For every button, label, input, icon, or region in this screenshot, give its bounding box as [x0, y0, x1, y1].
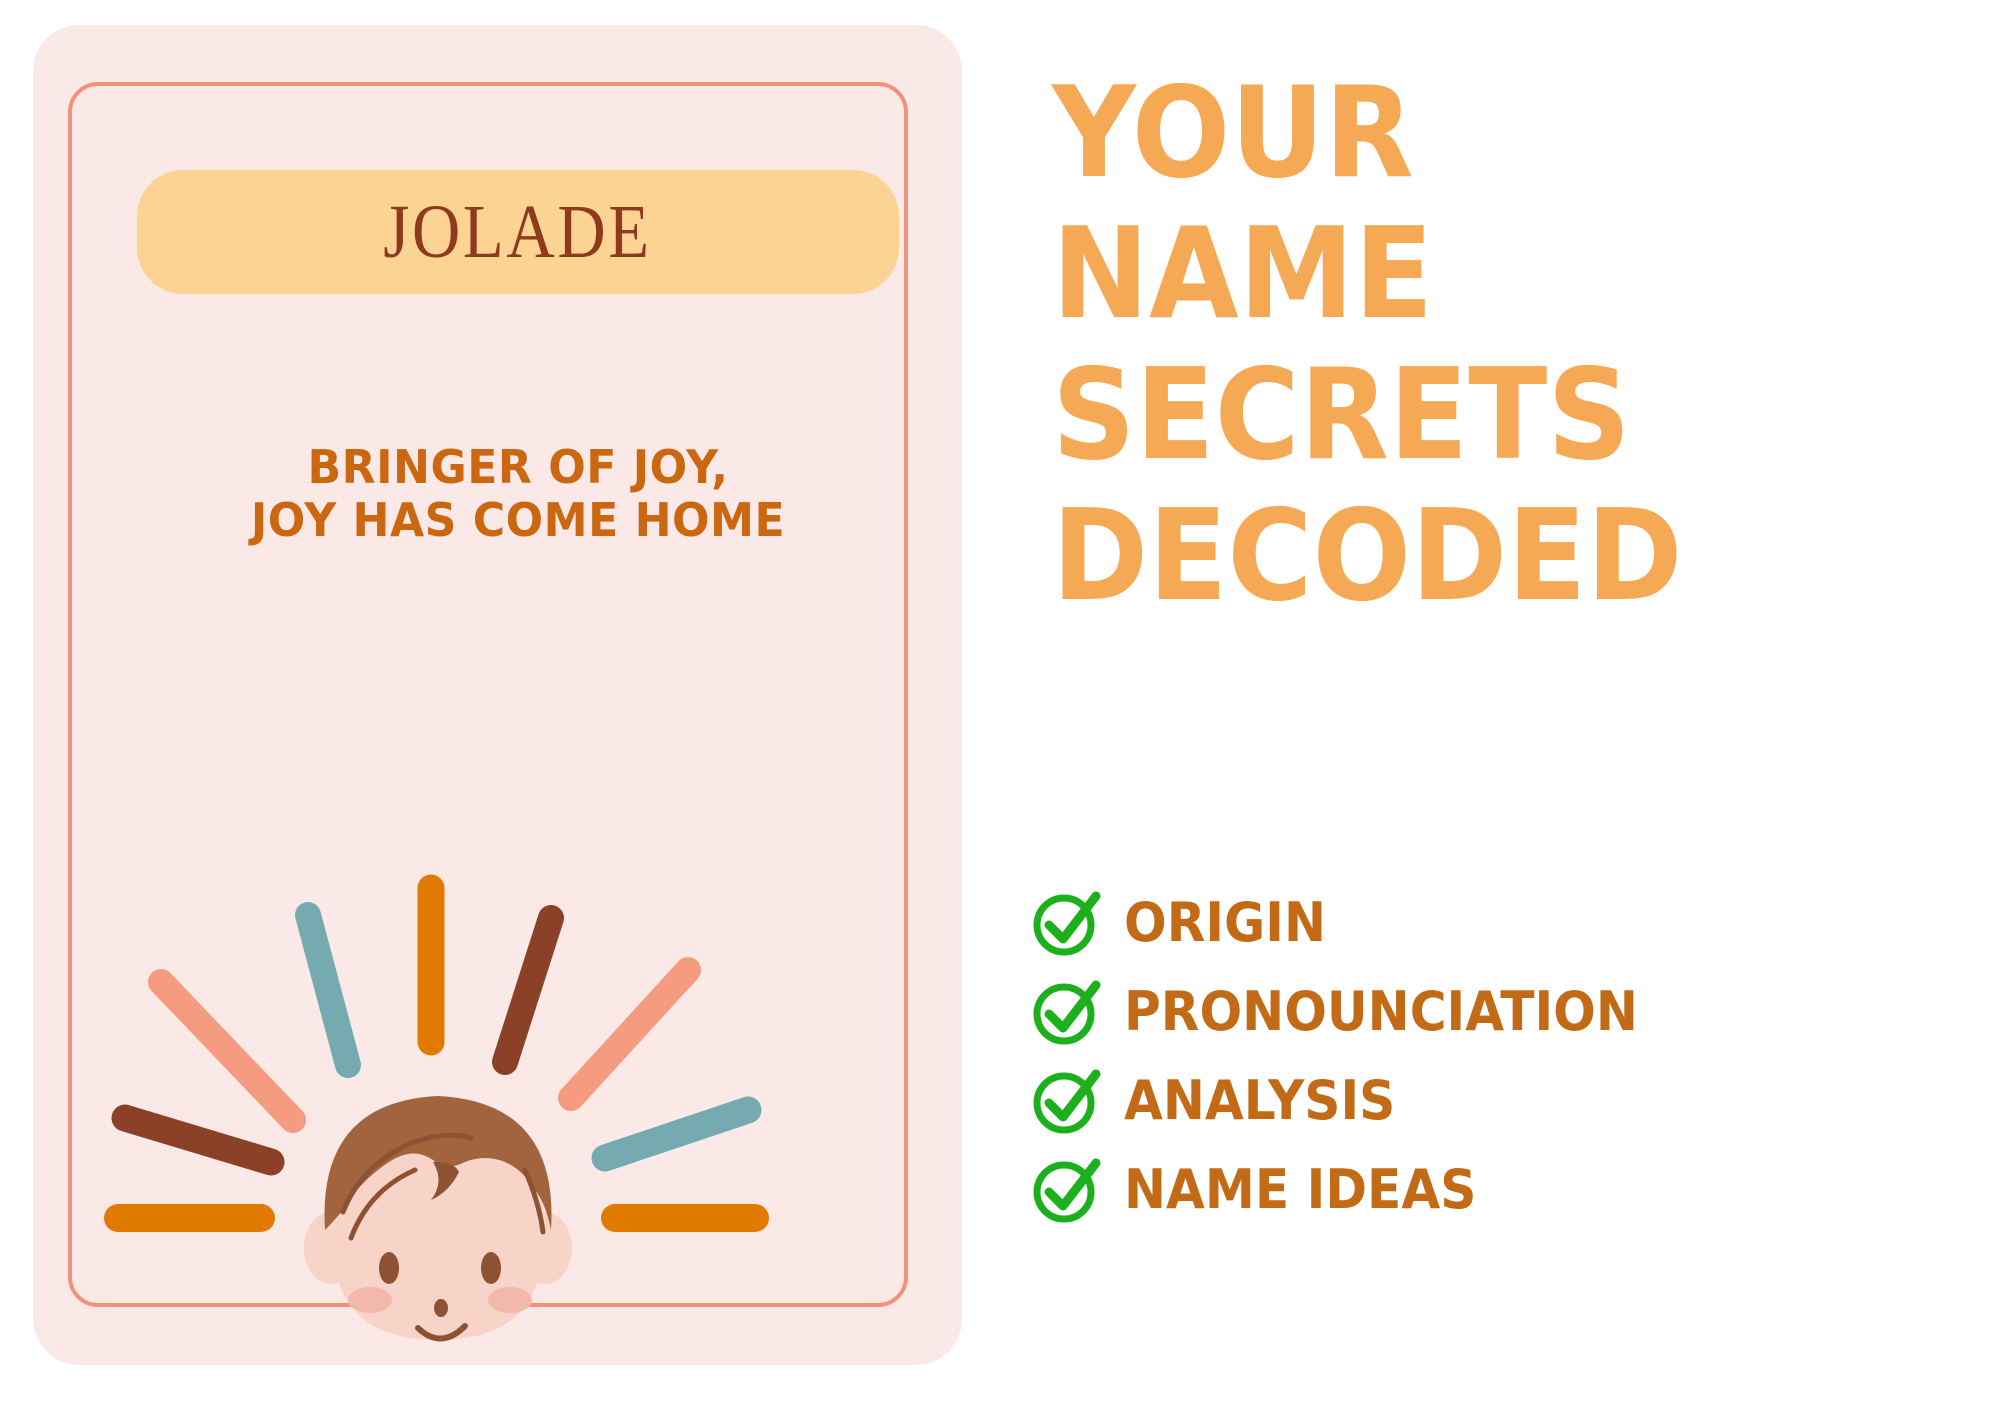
circle-check-icon [1030, 976, 1102, 1048]
nose [434, 1299, 448, 1317]
right-cheek [488, 1287, 532, 1313]
name-meaning-line-2: JOY HAS COME HOME [139, 494, 897, 547]
name-text: JOLADE [384, 194, 652, 270]
name-pill: JOLADE [137, 170, 899, 294]
headline-line-4: DECODED [1052, 485, 1862, 626]
left-cheek [348, 1287, 392, 1313]
checklist-item-analysis: ANALYSIS [1030, 1063, 1960, 1139]
circle-check-icon [1030, 887, 1102, 959]
teal-ray-left-inner [308, 915, 348, 1065]
name-meaning-line-1: BRINGER OF JOY, [139, 441, 897, 494]
checklist-label: PRONOUNCIATION [1124, 985, 1638, 1039]
brown-ray-left [125, 1118, 271, 1162]
brown-ray-right-inner [505, 918, 551, 1062]
poster-canvas: JOLADE BRINGER OF JOY, JOY HAS COME HOME [0, 0, 2000, 1414]
circle-check-icon [1030, 1065, 1102, 1137]
child-face-illustration [93, 870, 903, 1365]
name-meaning-text: BRINGER OF JOY, JOY HAS COME HOME [139, 441, 897, 548]
salmon-ray-left-outer [161, 982, 293, 1120]
checklist-label: NAME IDEAS [1124, 1163, 1476, 1217]
checklist-item-name-ideas: NAME IDEAS [1030, 1152, 1960, 1228]
checklist-item-pronounciation: PRONOUNCIATION [1030, 974, 1960, 1050]
headline: YOUR NAME SECRETS DECODED [1052, 62, 1932, 626]
salmon-ray-right [571, 970, 688, 1098]
child-head [304, 1096, 572, 1340]
checklist-label: ORIGIN [1124, 896, 1326, 950]
circle-check-icon [1030, 1154, 1102, 1226]
left-eye [379, 1252, 399, 1284]
feature-checklist: ORIGIN PRONOUNCIATION ANALYSIS [1030, 885, 1960, 1241]
checklist-item-origin: ORIGIN [1030, 885, 1960, 961]
headline-line-2: NAME [1052, 203, 1862, 344]
headline-line-1: YOUR [1052, 62, 1862, 203]
teal-ray-right-outer [605, 1110, 748, 1158]
name-card: JOLADE BRINGER OF JOY, JOY HAS COME HOME [33, 25, 962, 1365]
right-eye [481, 1252, 501, 1284]
headline-line-3: SECRETS [1052, 344, 1862, 485]
checklist-label: ANALYSIS [1124, 1074, 1395, 1128]
